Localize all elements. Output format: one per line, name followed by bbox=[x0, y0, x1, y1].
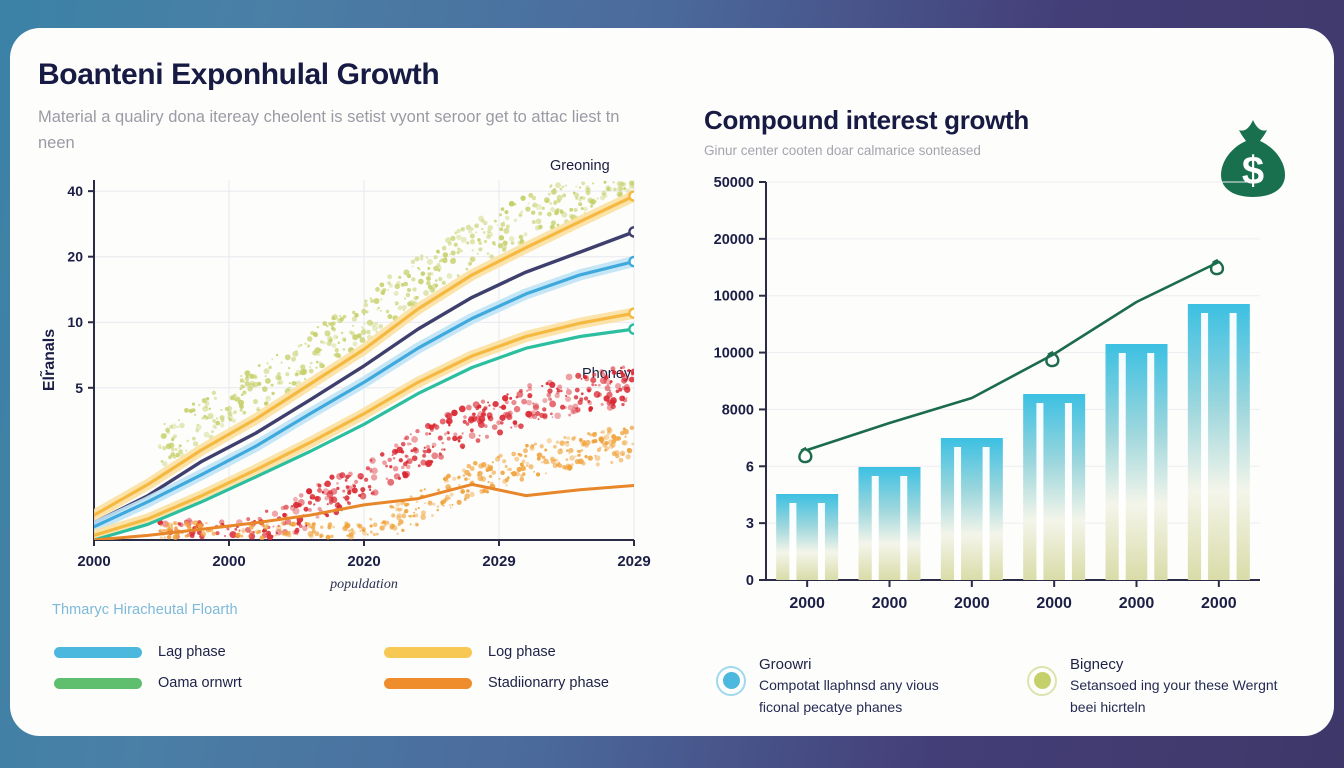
legend-item-log[interactable]: Log phase bbox=[384, 644, 656, 660]
panes: Boanteni Exponhulal Growth Material a qu… bbox=[10, 28, 1334, 736]
svg-text:8000: 8000 bbox=[722, 402, 754, 418]
svg-text:10: 10 bbox=[67, 314, 83, 330]
legend-swatch-log bbox=[384, 647, 472, 658]
svg-text:50000: 50000 bbox=[714, 175, 754, 191]
svg-text:3: 3 bbox=[746, 516, 754, 532]
main-card: Boanteni Exponhulal Growth Material a qu… bbox=[10, 28, 1334, 736]
legend-item-stationary[interactable]: Stadiionarry phase bbox=[384, 675, 656, 691]
svg-text:10000: 10000 bbox=[714, 288, 754, 304]
legend-heading-groowri: Groowri bbox=[759, 656, 812, 673]
svg-text:Elr̃anals: Elr̃anals bbox=[38, 329, 58, 391]
svg-text:6: 6 bbox=[746, 459, 754, 475]
svg-text:2000: 2000 bbox=[1119, 595, 1155, 612]
legend-item-lag[interactable]: Lag phase bbox=[54, 644, 384, 660]
legend-item-bignecy[interactable]: Bignecy Setansoed ing your these Wergnt … bbox=[1027, 654, 1294, 719]
svg-text:20: 20 bbox=[67, 249, 83, 265]
left-legend: Lag phase Log phase Oama ornwrt Stadiion… bbox=[54, 644, 656, 691]
legend-dot-bignecy bbox=[1027, 666, 1057, 696]
legend-body-bignecy: Setansoed ing your these Wergnt beei hic… bbox=[1070, 677, 1278, 715]
growth-line-chart: 402010520002000202020292029populdationEl… bbox=[38, 168, 658, 598]
svg-text:2000: 2000 bbox=[1201, 595, 1237, 612]
svg-text:2029: 2029 bbox=[482, 553, 515, 570]
svg-text:2000: 2000 bbox=[954, 595, 990, 612]
svg-text:2000: 2000 bbox=[789, 595, 825, 612]
page-subtitle: Material a qualiry dona itereay cheolent… bbox=[38, 105, 628, 156]
svg-text:2000: 2000 bbox=[77, 553, 110, 570]
legend-swatch-oama bbox=[54, 678, 142, 689]
legend-dot-groowri bbox=[716, 666, 746, 696]
legend-heading-bignecy: Bignecy bbox=[1070, 656, 1123, 673]
page-title: Boanteni Exponhulal Growth bbox=[38, 58, 656, 91]
right-legend: Groowri Compotat llaphnsd any vious fico… bbox=[716, 654, 1294, 719]
svg-text:10000: 10000 bbox=[714, 345, 754, 361]
svg-text:20000: 20000 bbox=[714, 231, 754, 247]
legend-item-groowri[interactable]: Groowri Compotat llaphnsd any vious fico… bbox=[716, 654, 983, 719]
right-title: Compound interest growth bbox=[704, 106, 1294, 135]
legend-label-oama: Oama ornwrt bbox=[158, 675, 242, 691]
svg-text:2000: 2000 bbox=[212, 553, 245, 570]
compound-interest-bar-chart: 5000020000100001000080006302000200020002… bbox=[700, 168, 1290, 638]
legend-label-lag: Lag phase bbox=[158, 644, 226, 660]
svg-text:2020: 2020 bbox=[347, 553, 380, 570]
right-subtitle: Ginur center cooten doar calmarice sonte… bbox=[704, 143, 1294, 158]
svg-text:2000: 2000 bbox=[872, 595, 908, 612]
right-panel: Compound interest growth Ginur center co… bbox=[682, 28, 1334, 736]
svg-text:2029: 2029 bbox=[617, 553, 650, 570]
legend-title: Thmaryc Hiracheutal Floarth bbox=[52, 602, 656, 618]
left-panel: Boanteni Exponhulal Growth Material a qu… bbox=[10, 28, 682, 736]
svg-text:2000: 2000 bbox=[1036, 595, 1072, 612]
legend-swatch-lag bbox=[54, 647, 142, 658]
svg-text:40: 40 bbox=[67, 183, 83, 199]
legend-label-log: Log phase bbox=[488, 644, 556, 660]
svg-text:5: 5 bbox=[75, 380, 83, 396]
legend-body-groowri: Compotat llaphnsd any vious ficonal peca… bbox=[759, 677, 939, 715]
svg-text:populdation: populdation bbox=[329, 577, 398, 592]
svg-text:0: 0 bbox=[746, 573, 754, 589]
legend-swatch-stationary bbox=[384, 678, 472, 689]
legend-label-stationary: Stadiionarry phase bbox=[488, 675, 609, 691]
legend-item-oama[interactable]: Oama ornwrt bbox=[54, 675, 384, 691]
